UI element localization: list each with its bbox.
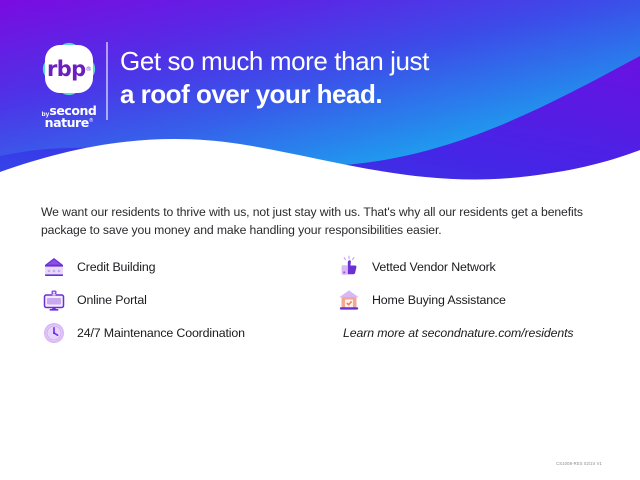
headline-line-1: Get so much more than just (120, 45, 429, 78)
benefit-item-credit-building: Credit Building (41, 250, 336, 283)
benefits-right-column: Vetted Vendor Network Home Buying Assist… (336, 250, 601, 349)
logo-divider (106, 42, 108, 120)
house-check-icon (336, 287, 362, 313)
hero-banner: rbp® bysecond nature® Get so much more t… (0, 0, 640, 182)
rbp-badge-icon: rbp® (38, 38, 100, 100)
byline-nature: nature (45, 115, 89, 130)
rbp-trademark: ® (86, 66, 91, 73)
benefit-item-online-portal: Online Portal (41, 283, 336, 316)
learn-more-text[interactable]: Learn more at secondnature.com/residents (336, 316, 601, 349)
benefit-item-home-buying: Home Buying Assistance (336, 283, 601, 316)
byline-nature-wrap: nature® (30, 117, 108, 130)
rbp-wordmark: rbp® (38, 38, 100, 100)
benefit-label: 24/7 Maintenance Coordination (77, 326, 245, 340)
online-portal-icon (41, 287, 67, 313)
clock-icon (41, 320, 67, 346)
benefit-label: Vetted Vendor Network (372, 260, 496, 274)
second-nature-byline: bysecond nature® (30, 103, 108, 130)
byline-trademark: ® (89, 118, 94, 124)
benefit-item-maintenance: 24/7 Maintenance Coordination (41, 316, 336, 349)
benefit-label: Online Portal (77, 293, 147, 307)
intro-paragraph: We want our residents to thrive with us,… (41, 204, 593, 240)
byline-prefix: by (42, 111, 50, 118)
headline-line-2: a roof over your head. (120, 78, 429, 111)
document-code: CS1008-RES 02/24 V1 (556, 461, 602, 466)
rbp-wordmark-text: rbp (47, 57, 86, 81)
thumbs-up-icon (336, 254, 362, 280)
hero-headline: Get so much more than just a roof over y… (120, 45, 429, 110)
benefit-label: Credit Building (77, 260, 155, 274)
benefit-label: Home Buying Assistance (372, 293, 506, 307)
rbp-logo-lockup: rbp® bysecond nature® (30, 38, 108, 124)
benefits-section: Credit Building Online Portal (41, 250, 601, 349)
benefits-left-column: Credit Building Online Portal (41, 250, 336, 349)
credit-building-icon (41, 254, 67, 280)
benefit-item-vetted-vendor: Vetted Vendor Network (336, 250, 601, 283)
